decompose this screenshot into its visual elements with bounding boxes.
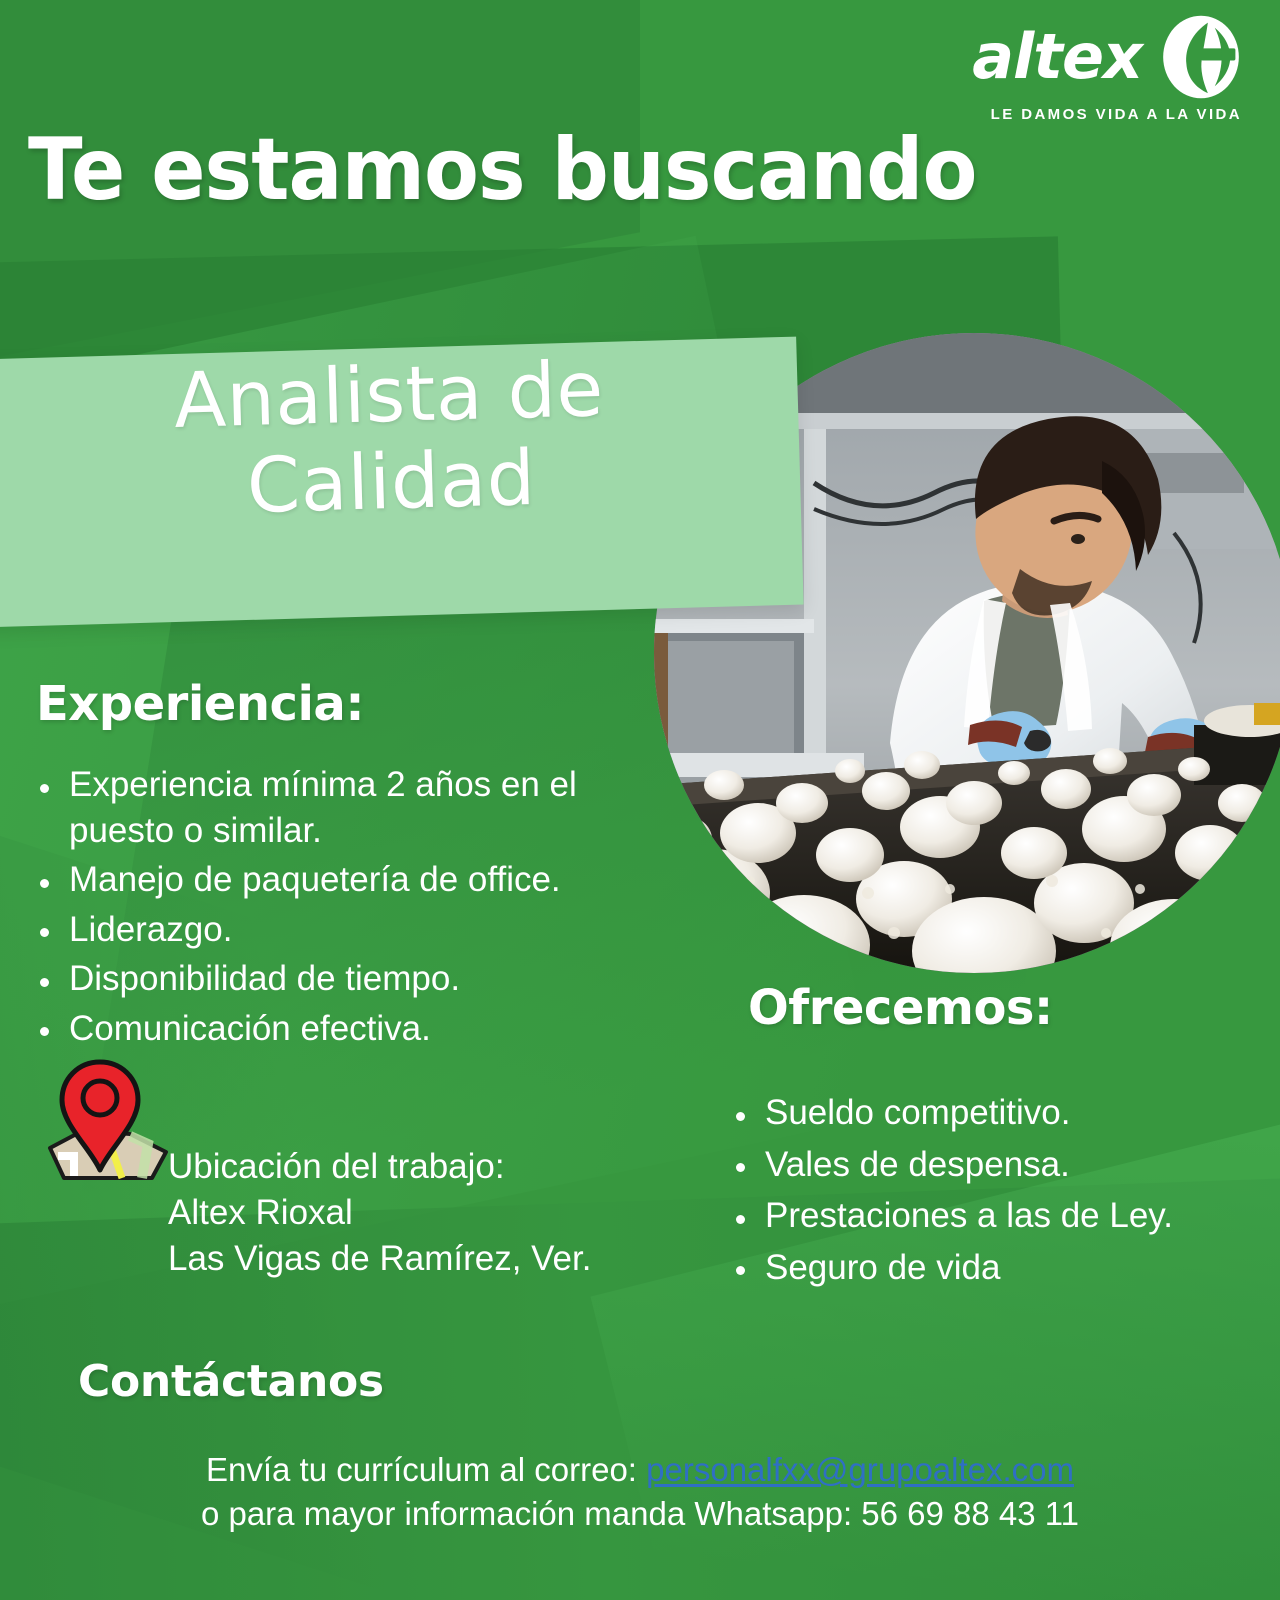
job-title: Analista de Calidad [0,341,792,537]
location-site: Altex Rioxal [168,1190,591,1236]
experience-list: Experiencia mínima 2 años en el puesto o… [40,762,690,1051]
experience-heading: Experiencia: [36,676,364,732]
bullet-icon [736,1215,745,1224]
list-item: Comunicación efectiva. [40,1006,690,1052]
offer-list: Sueldo competitivo. Vales de despensa. P… [736,1090,1256,1290]
bullet-icon [40,1027,49,1036]
logo-row: altex [972,14,1244,100]
list-item-label: Prestaciones a las de Ley. [765,1193,1256,1239]
location-text: Ubicación del trabajo: Altex Rioxal Las … [168,1144,591,1283]
list-item: Manejo de paquetería de office. [40,857,690,903]
list-item: Prestaciones a las de Ley. [736,1193,1256,1239]
contact-email-link[interactable]: personalfxx@grupoaltex.com [646,1451,1074,1488]
list-item-label: Seguro de vida [765,1245,1256,1291]
bullet-icon [40,978,49,987]
altex-sphere-leaf-icon [1158,14,1244,100]
brand-logo: altex LE DAMOS VIDA A LA VIDA [972,14,1244,123]
list-item-label: Manejo de paquetería de office. [69,857,690,903]
contact-whatsapp-line: o para mayor información manda Whatsapp:… [0,1492,1280,1536]
job-posting-flyer: altex LE DAMOS VIDA A LA VIDA Te estamos… [0,0,1280,1600]
list-item-label: Comunicación efectiva. [69,1006,690,1052]
bullet-icon [40,879,49,888]
bullet-icon [40,928,49,937]
list-item: Sueldo competitivo. [736,1090,1256,1136]
map-pin-icon [44,1052,172,1182]
bullet-icon [40,784,49,793]
contact-heading: Contáctanos [78,1356,384,1407]
list-item-label: Vales de despensa. [765,1142,1256,1188]
list-item: Liderazgo. [40,907,690,953]
list-item: Vales de despensa. [736,1142,1256,1188]
location-label: Ubicación del trabajo: [168,1144,591,1190]
list-item: Seguro de vida [736,1245,1256,1291]
offer-heading: Ofrecemos: [748,980,1053,1036]
page-title: Te estamos buscando [28,127,976,213]
brand-wordmark: altex [972,26,1142,88]
brand-tagline: LE DAMOS VIDA A LA VIDA [991,106,1242,123]
bullet-icon [736,1112,745,1121]
list-item-label: Liderazgo. [69,907,690,953]
contact-email-line: Envía tu currículum al correo: personalf… [0,1448,1280,1492]
bullet-icon [736,1163,745,1172]
list-item-label: Experiencia mínima 2 años en el puesto o… [69,762,690,853]
list-item: Disponibilidad de tiempo. [40,956,690,1002]
list-item-label: Disponibilidad de tiempo. [69,956,690,1002]
contact-email-prefix: Envía tu currículum al correo: [206,1451,646,1488]
bullet-icon [736,1266,745,1275]
list-item: Experiencia mínima 2 años en el puesto o… [40,762,690,853]
location-city: Las Vigas de Ramírez, Ver. [168,1236,591,1282]
contact-details: Envía tu currículum al correo: personalf… [0,1448,1280,1535]
list-item-label: Sueldo competitivo. [765,1090,1256,1136]
